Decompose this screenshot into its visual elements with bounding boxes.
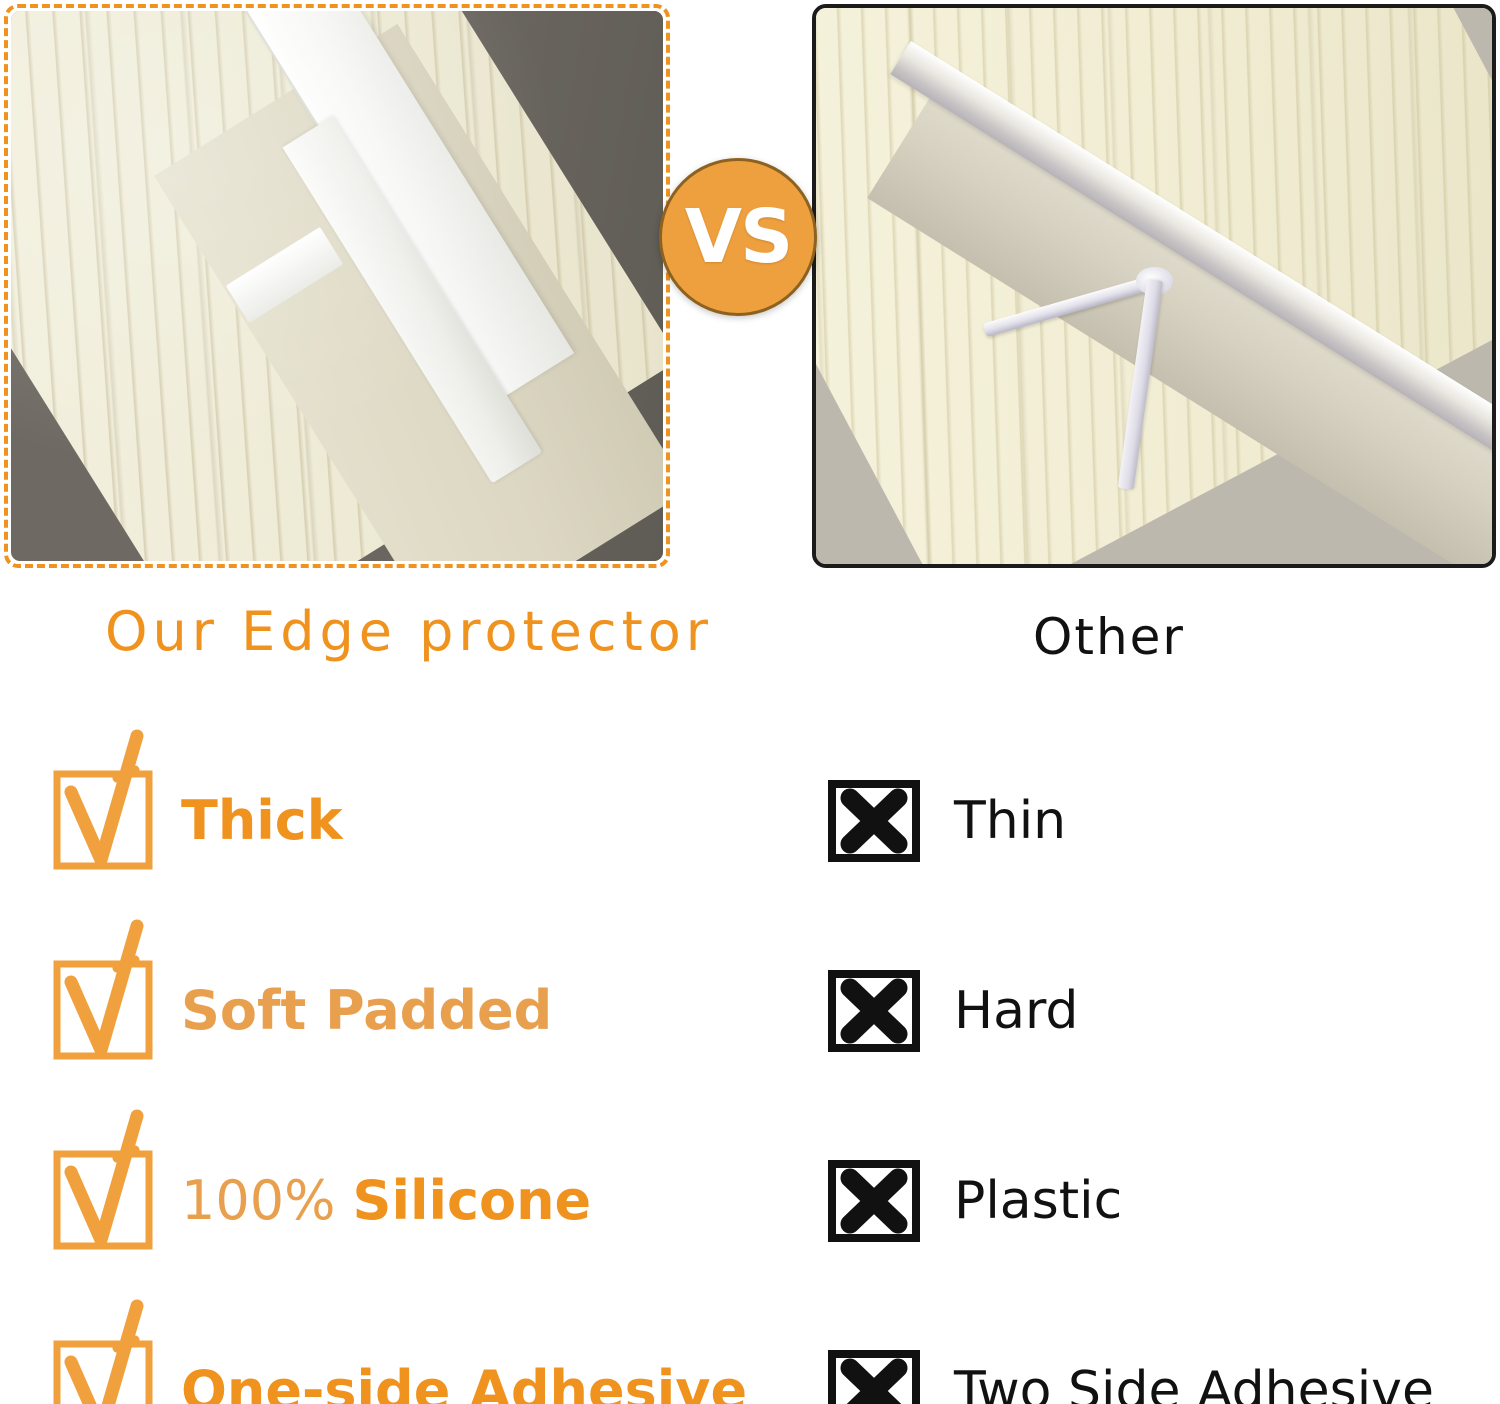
x-box-icon [828, 1350, 920, 1404]
feature-label: Thin [954, 795, 1066, 847]
x-box-icon [828, 780, 920, 862]
feature-row: Thick [55, 726, 775, 916]
feature-label: Hard [954, 985, 1078, 1037]
feature-row: Soft Padded [55, 916, 775, 1106]
other-feature-list: Thin Hard Plastic [828, 726, 1488, 1404]
check-box-icon [55, 1342, 153, 1404]
comparison-infographic: VS Our Edge protector Other Thick [0, 0, 1500, 1404]
vs-badge-label: VS [685, 200, 792, 274]
our-column-heading: Our Edge protector [105, 600, 713, 663]
check-box-icon [55, 1152, 153, 1250]
feature-label: One-side Adhesive [181, 1364, 747, 1404]
photo-highlight-overlay [11, 11, 663, 561]
feature-label: 100% Silicone [181, 1174, 591, 1228]
feature-row: 100% Silicone [55, 1106, 775, 1296]
feature-label: Thick [181, 794, 343, 848]
feature-label-prefix: 100% [181, 1169, 353, 1232]
feature-row: Two Side Adhesive [828, 1296, 1488, 1404]
x-box-icon [828, 1160, 920, 1242]
our-product-scene [11, 11, 663, 561]
other-column-heading: Other [1033, 608, 1185, 666]
x-box-icon [828, 970, 920, 1052]
feature-label: Plastic [954, 1175, 1122, 1227]
our-feature-list: Thick Soft Padded 100% Sili [55, 726, 775, 1404]
feature-row: Plastic [828, 1106, 1488, 1296]
vs-badge: VS [659, 158, 817, 316]
check-box-icon [55, 962, 153, 1060]
feature-row: One-side Adhesive [55, 1296, 775, 1404]
other-product-scene [816, 8, 1492, 564]
feature-row: Hard [828, 916, 1488, 1106]
feature-row: Thin [828, 726, 1488, 916]
check-box-icon [55, 772, 153, 870]
photo-comparison-row: VS [0, 0, 1500, 572]
our-product-photo [4, 4, 670, 568]
feature-label-strong: Silicone [353, 1169, 592, 1232]
other-product-photo [812, 4, 1496, 568]
feature-label: Two Side Adhesive [954, 1365, 1434, 1404]
feature-label: Soft Padded [181, 984, 552, 1038]
